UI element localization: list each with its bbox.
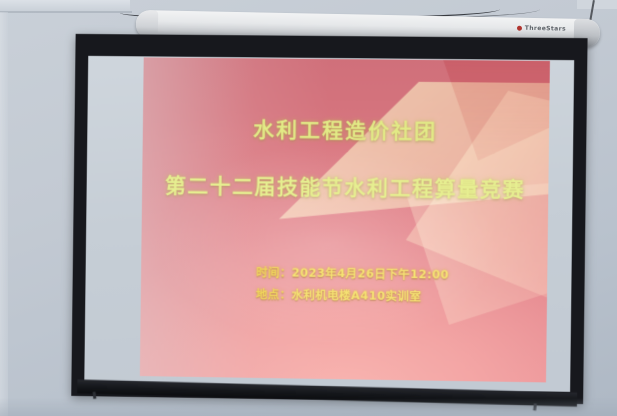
projected-slide: 水利工程造价社团 第二十二届技能节水利工程算量竞赛 时间：2023年4月26日下… [140, 57, 550, 382]
meta-time-label: 时间： [256, 265, 292, 279]
projector-screen[interactable]: 水利工程造价社团 第二十二届技能节水利工程算量竞赛 时间：2023年4月26日下… [71, 34, 587, 404]
casing-brand-logo: ThreeStars [517, 25, 566, 33]
classroom-scene: ThreeStars 水利工程造价社团 第二十二届技能节水利工程算量竞赛 [0, 0, 617, 416]
slide-meta-block: 时间：2023年4月26日下午12:00 地点：水利机电楼A410实训室 [238, 264, 449, 305]
meta-location-label: 地点： [256, 287, 292, 301]
slide-meta-time: 时间：2023年4月26日下午12:00 [256, 264, 449, 283]
brand-dot-icon [517, 26, 522, 31]
wall-edge-left [0, 12, 8, 416]
slide-title-secondary: 第二十二届技能节水利工程算量竞赛 [165, 170, 526, 204]
brand-name-label: ThreeStars [525, 25, 566, 33]
wall-seam-right [577, 0, 617, 9]
lower-wall-shadow [0, 398, 617, 416]
meta-location-value: 水利机电楼A410实训室 [291, 288, 421, 304]
slide-meta-location: 地点：水利机电楼A410实训室 [256, 286, 449, 305]
meta-time-value: 2023年4月26日下午12:00 [292, 266, 449, 282]
slide-content: 水利工程造价社团 第二十二届技能节水利工程算量竞赛 时间：2023年4月26日下… [140, 57, 550, 382]
screen-fabric: 水利工程造价社团 第二十二届技能节水利工程算量竞赛 时间：2023年4月26日下… [84, 56, 574, 392]
slide-title-primary: 水利工程造价社团 [253, 114, 437, 146]
wall-seam-left [0, 11, 132, 13]
